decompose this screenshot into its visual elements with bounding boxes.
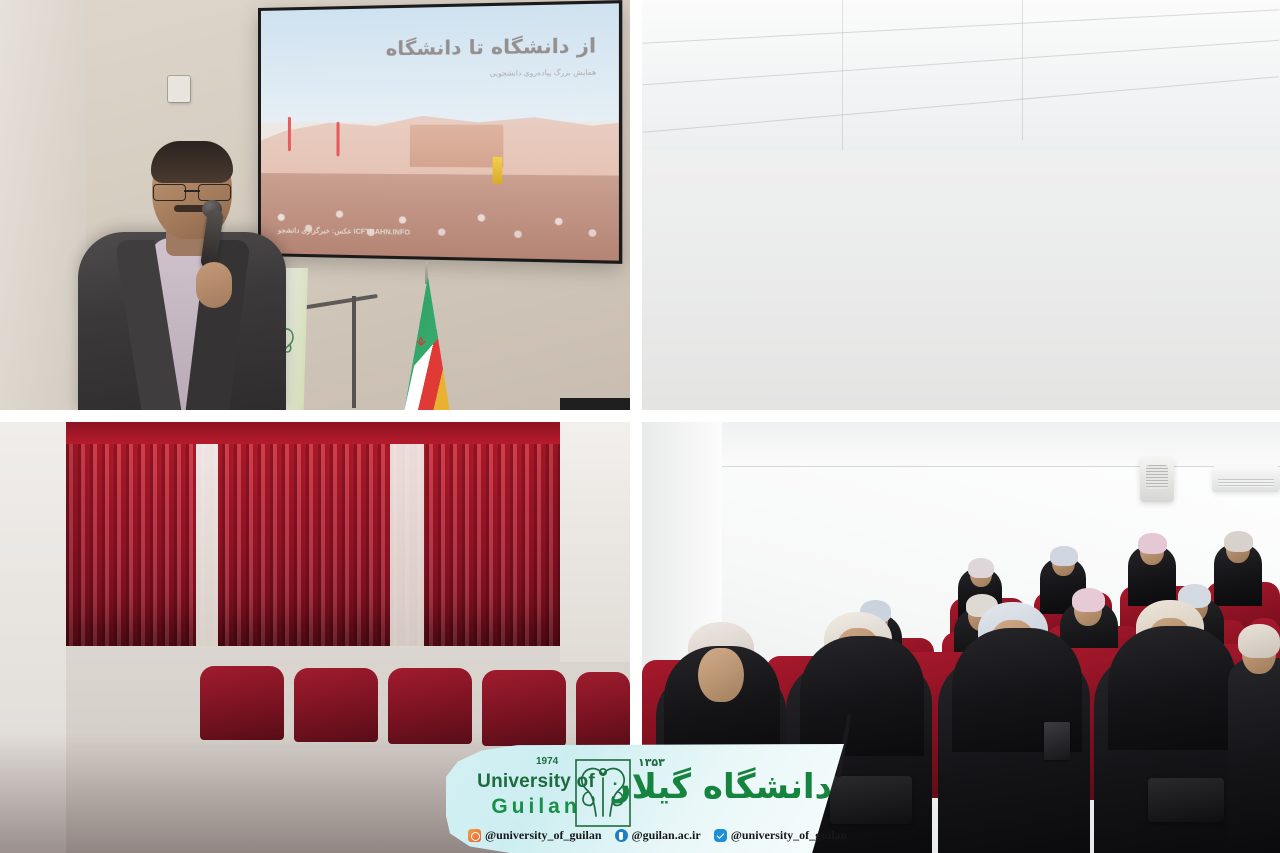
curtain-valance [66,422,560,444]
glasses-bridge [184,190,200,192]
chador-drape [800,636,924,756]
photo-collage: از دانشگاه تا دانشگاه همایش بزرگ پیاده‌ر… [0,0,1280,853]
right-wall [560,422,630,662]
photo-top-right[interactable] [642,0,1280,410]
slide-building [410,124,504,167]
ceiling [642,0,1280,150]
chador-drape [1108,626,1236,750]
headscarf [968,558,994,578]
table-edge [560,398,630,410]
slide-crowd [261,173,619,260]
slide-flag-mid [336,122,339,156]
auditorium-seat [200,666,284,740]
university-branding-banner: 1974 ۱۳۵۳ University of Guilan دانشگاه گ… [446,744,844,853]
headscarf [1050,546,1078,566]
photo-top-left[interactable]: از دانشگاه تا دانشگاه همایش بزرگ پیاده‌ر… [0,0,630,410]
slide-sky [261,3,619,122]
stage-curtain [66,422,560,646]
speaker-hand [196,262,232,308]
website-handle: @guilan.ac.ir [632,828,701,843]
social-telegram[interactable]: @university_of_guilan [714,828,848,843]
attendee-face [698,648,744,702]
projection-screen-frame: از دانشگاه تا دانشگاه همایش بزرگ پیاده‌ر… [258,0,622,264]
instagram-handle: @university_of_guilan [485,828,602,843]
slide-yellow-flag [492,157,502,184]
headscarf [1138,533,1167,554]
slide-title: از دانشگاه تا دانشگاه [371,35,596,61]
telegram-icon [714,829,727,842]
microphone-stand-pole [352,296,356,408]
auditorium-seat [294,668,378,742]
wall-loudspeaker [1140,458,1174,502]
ceiling-grid-line [1022,0,1023,140]
social-instagram[interactable]: @university_of_guilan [468,828,602,843]
speaker-hair [151,141,233,183]
ceiling [642,422,1280,468]
wall-panel [0,0,86,410]
air-conditioner [1212,466,1280,492]
light-switch [168,76,190,102]
website-icon [615,829,628,842]
university-name-persian: دانشگاه گیلان [612,750,832,824]
attendee-figure [1228,658,1280,853]
headscarf [1224,531,1253,552]
founding-year-gregorian: 1974 [536,756,558,767]
headscarf [1072,588,1105,612]
ceiling-edge-line [642,466,1280,467]
iran-emblem-icon [414,336,428,350]
projection-screen: از دانشگاه تا دانشگاه همایش بزرگ پیاده‌ر… [261,3,619,260]
slide-flag-left [288,117,291,151]
social-links: @university_of_guilan @guilan.ac.ir @uni… [468,828,847,843]
ceiling-grid-line [842,0,843,150]
curtain-gap [390,422,424,646]
telegram-handle: @university_of_guilan [731,828,848,843]
handbag [1148,778,1224,822]
mobile-phone [1044,722,1070,760]
social-website[interactable]: @guilan.ac.ir [615,828,701,843]
headscarf [1238,624,1280,658]
instagram-icon [468,829,481,842]
curtain-gap [196,422,218,646]
